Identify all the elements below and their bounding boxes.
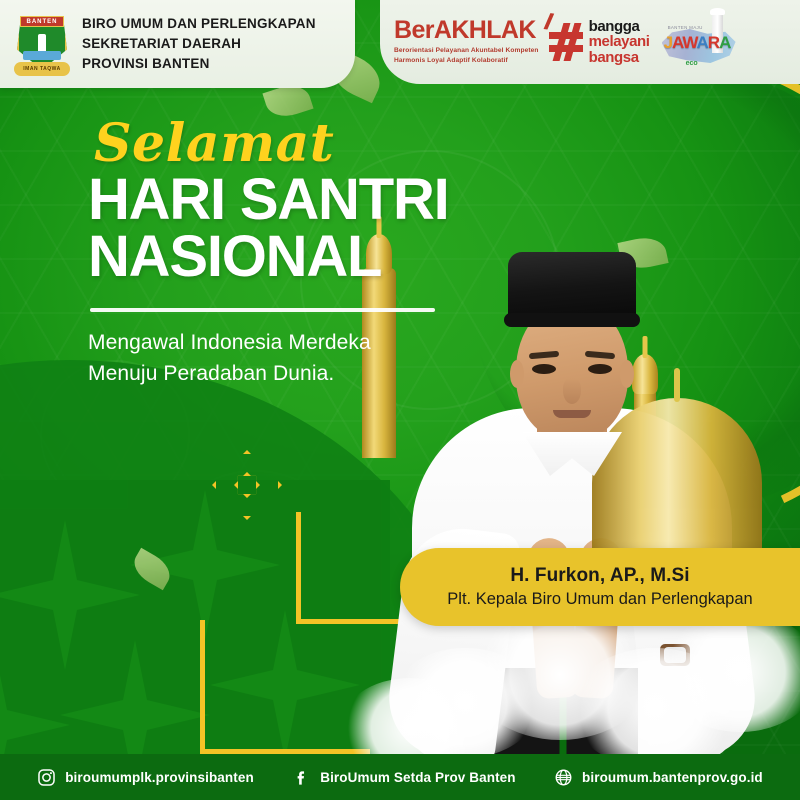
emblem-band-text: BANTEN (20, 16, 64, 27)
org-line-3: PROVINSI BANTEN (82, 54, 316, 74)
octagram-ornament (212, 450, 282, 520)
footer-website[interactable]: biroumum.bantenprov.go.id (554, 768, 763, 787)
official-name: H. Furkon, AP., M.Si (510, 565, 689, 587)
bangga-line-3: bangsa (589, 50, 650, 65)
instagram-handle: biroumumplk.provinsibanten (65, 770, 254, 785)
tagline-line-2: Menuju Peradaban Dunia. (88, 359, 508, 389)
facebook-icon (292, 768, 311, 787)
greeting-script: Selamat (94, 118, 508, 170)
title-line-2: NASIONAL (88, 227, 508, 286)
peci-cap-icon (508, 252, 636, 324)
berakhlak-wordmark: BerAKHLAK (394, 18, 539, 43)
official-role: Plt. Kepala Biro Umum dan Perlengkapan (447, 590, 752, 609)
title-line-1: HARI SANTRI (88, 170, 508, 229)
org-line-1: BIRO UMUM DAN PERLENGKAPAN (82, 14, 316, 34)
nameplate: H. Furkon, AP., M.Si Plt. Kepala Biro Um… (400, 548, 800, 626)
berakhlak-sub-1: Berorientasi Pelayanan Akuntabel Kompete… (394, 46, 539, 56)
berakhlak-main: AKHLAK (434, 16, 536, 44)
divider-rule (90, 308, 435, 312)
wristwatch-icon (660, 644, 690, 666)
bangga-line-2: melayani (589, 34, 650, 49)
header-right-band: BerAKHLAK Berorientasi Pelayanan Akuntab… (380, 0, 800, 84)
berakhlak-logo: BerAKHLAK Berorientasi Pelayanan Akuntab… (394, 18, 539, 65)
org-line-2: SEKRETARIAT DAERAH (82, 34, 316, 54)
bangga-melayani-bangsa-logo: bangga melayani bangsa (549, 19, 650, 65)
jawara-wordmark: JAWARA (664, 33, 731, 53)
organization-title: BIRO UMUM DAN PERLENGKAPAN SEKRETARIAT D… (82, 14, 316, 75)
banten-emblem-icon: BANTEN IMAN TAQWA (14, 12, 70, 76)
headline-block: Selamat HARI SANTRI NASIONAL Mengawal In… (88, 118, 508, 389)
bangga-line-1: bangga (589, 19, 650, 34)
berakhlak-sub-2: Harmonis Loyal Adaptif Kolaboratif (394, 56, 539, 66)
hashtag-icon (549, 23, 583, 61)
gold-step-vertical-2 (200, 620, 205, 752)
jawara-tagline: BANTEN MAJU (668, 25, 703, 30)
berakhlak-pre: Ber (394, 16, 434, 44)
jawara-logo: BANTEN MAJU JAWARA eco (660, 13, 738, 71)
website-url: biroumum.bantenprov.go.id (582, 770, 763, 785)
berakhlak-subtext: Berorientasi Pelayanan Akuntabel Kompete… (394, 46, 539, 65)
globe-icon (554, 768, 573, 787)
footer-facebook[interactable]: BiroUmum Setda Prov Banten (292, 768, 515, 787)
facebook-handle: BiroUmum Setda Prov Banten (320, 770, 515, 785)
header-left-band: BANTEN IMAN TAQWA BIRO UMUM DAN PERLENGK… (0, 0, 355, 88)
footer-instagram[interactable]: biroumumplk.provinsibanten (37, 768, 254, 787)
instagram-icon (37, 768, 56, 787)
footer-bar: biroumumplk.provinsibanten BiroUmum Setd… (0, 754, 800, 800)
emblem-ribbon-text: IMAN TAQWA (14, 62, 70, 76)
tagline-line-1: Mengawal Indonesia Merdeka (88, 328, 508, 358)
jawara-eco-label: eco (686, 60, 698, 67)
poster-canvas: BANTEN IMAN TAQWA BIRO UMUM DAN PERLENGK… (0, 0, 800, 800)
gold-step-vertical (296, 512, 301, 620)
